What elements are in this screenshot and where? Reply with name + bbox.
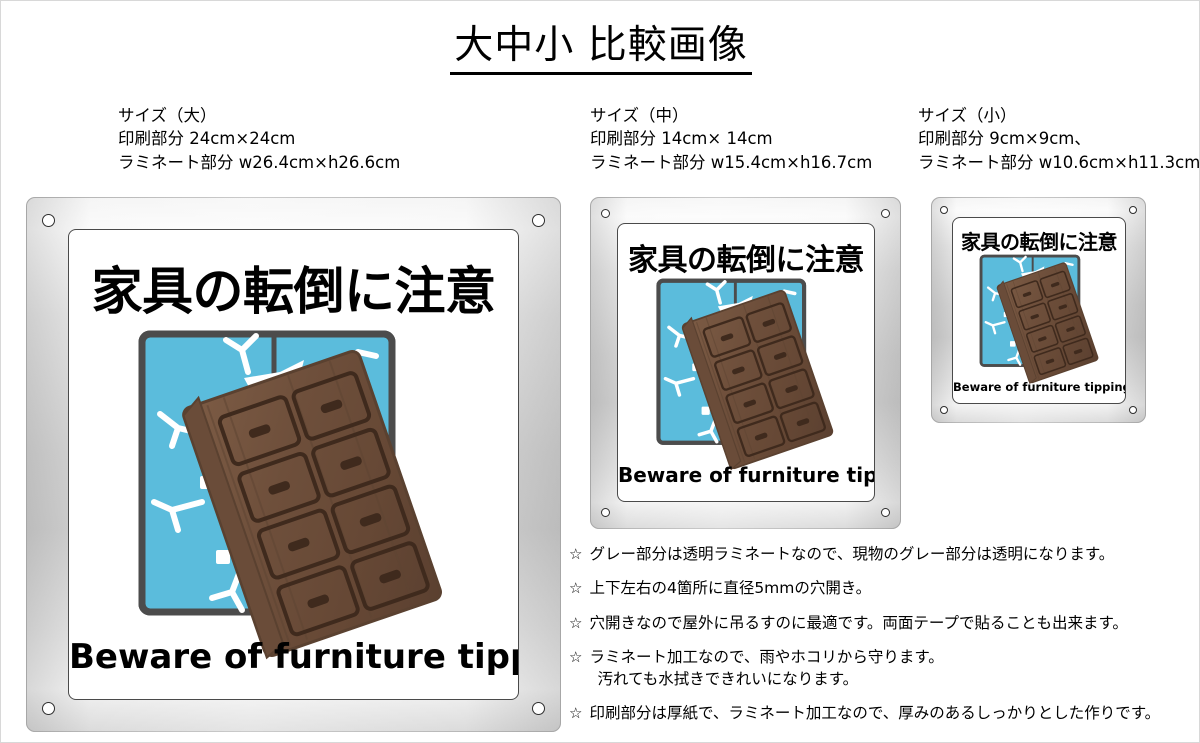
sign-headline-medium: 家具の転倒に注意 [618, 235, 874, 279]
note-item: ☆ 印刷部分は厚紙で、ラミネート加工なので、厚みのあるしっかりとした作りです。 [569, 703, 1199, 724]
star-icon: ☆ [569, 544, 582, 565]
furniture-tipping-illustration-medium [648, 276, 846, 451]
sign-headline-large: 家具の転倒に注意 [69, 250, 518, 324]
sign-subline-large: Beware of furniture tipping [69, 637, 518, 677]
comparison-image-page: 大中小 比較画像 サイズ（大） 印刷部分 24cm×24cm ラミネート部分 w… [0, 0, 1200, 743]
note-line-1: ラミネート加工なので、雨やホコリから守ります。 [589, 648, 943, 666]
notes-list: ☆ グレー部分は透明ラミネートなので、現物のグレー部分は透明になります。 ☆ 上… [569, 544, 1199, 737]
sign-card-medium: 家具の転倒に注意 [617, 223, 875, 502]
sign-card-small: 家具の転倒に注意 [952, 217, 1126, 404]
mounting-hole-top-right [532, 214, 545, 227]
note-text: ラミネート加工なので、雨やホコリから守ります。 汚れても水拭きできれいになります… [589, 647, 1199, 690]
sign-plate-small: 家具の転倒に注意 [931, 197, 1146, 423]
size-label-small: サイズ（小） [918, 104, 1200, 127]
note-line-2: 汚れても水拭きできれいになります。 [589, 669, 1199, 690]
mounting-hole-top-left [42, 214, 55, 227]
sign-subline-medium: Beware of furniture tipping [618, 463, 874, 487]
note-item: ☆ 穴開きなので屋外に吊るすのに最適です。両面テープで貼ることも出来ます。 [569, 613, 1199, 634]
size-caption-medium: サイズ（中） 印刷部分 14cm× 14cm ラミネート部分 w15.4cm×h… [590, 104, 872, 174]
note-line-1: 上下左右の4箇所に直径5mmの穴開き。 [589, 579, 871, 597]
laminate-area-medium: ラミネート部分 w15.4cm×h16.7cm [590, 151, 872, 174]
mounting-hole-top-right [881, 209, 890, 218]
print-area-medium: 印刷部分 14cm× 14cm [590, 127, 872, 150]
mounting-hole-bottom-left [42, 702, 55, 715]
note-text: 上下左右の4箇所に直径5mmの穴開き。 [589, 578, 1199, 599]
size-caption-large: サイズ（大） 印刷部分 24cm×24cm ラミネート部分 w26.4cm×h2… [118, 104, 400, 174]
page-title: 大中小 比較画像 [1, 23, 1200, 75]
furniture-tipping-illustration-small [974, 253, 1107, 371]
star-icon: ☆ [569, 703, 582, 724]
laminate-area-large: ラミネート部分 w26.4cm×h26.6cm [118, 151, 400, 174]
note-text: 印刷部分は厚紙で、ラミネート加工なので、厚みのあるしっかりとした作りです。 [589, 703, 1199, 724]
mounting-hole-top-right [1129, 206, 1137, 214]
note-text: グレー部分は透明ラミネートなので、現物のグレー部分は透明になります。 [589, 544, 1199, 565]
mounting-hole-bottom-right [532, 702, 545, 715]
note-item: ☆ ラミネート加工なので、雨やホコリから守ります。 汚れても水拭きできれいになり… [569, 647, 1199, 690]
mounting-hole-top-left [601, 209, 610, 218]
mounting-hole-top-left [940, 206, 948, 214]
note-item: ☆ 上下左右の4箇所に直径5mmの穴開き。 [569, 578, 1199, 599]
mounting-hole-bottom-left [940, 406, 948, 414]
mounting-hole-bottom-right [1129, 406, 1137, 414]
sign-plate-large: 家具の転倒に注意 [26, 197, 561, 732]
sign-plate-medium: 家具の転倒に注意 [590, 197, 901, 529]
page-title-text: 大中小 比較画像 [450, 25, 751, 75]
laminate-area-small: ラミネート部分 w10.6cm×h11.3cm [918, 151, 1200, 174]
note-text: 穴開きなので屋外に吊るすのに最適です。両面テープで貼ることも出来ます。 [589, 613, 1199, 634]
mounting-hole-bottom-right [881, 508, 890, 517]
size-label-large: サイズ（大） [118, 104, 400, 127]
mounting-hole-bottom-left [601, 508, 610, 517]
sign-headline-small: 家具の転倒に注意 [953, 226, 1125, 255]
print-area-small: 印刷部分 9cm×9cm、 [918, 127, 1200, 150]
note-line-1: グレー部分は透明ラミネートなので、現物のグレー部分は透明になります。 [589, 545, 1114, 563]
size-caption-small: サイズ（小） 印刷部分 9cm×9cm、 ラミネート部分 w10.6cm×h11… [918, 104, 1200, 174]
note-line-1: 穴開きなので屋外に吊るすのに最適です。両面テープで貼ることも出来ます。 [589, 614, 1127, 632]
note-item: ☆ グレー部分は透明ラミネートなので、現物のグレー部分は透明になります。 [569, 544, 1199, 565]
sign-subline-small: Beware of furniture tipping [953, 380, 1125, 394]
furniture-tipping-illustration-large [124, 326, 464, 626]
print-area-large: 印刷部分 24cm×24cm [118, 127, 400, 150]
star-icon: ☆ [569, 613, 582, 634]
star-icon: ☆ [569, 647, 582, 668]
note-line-1: 印刷部分は厚紙で、ラミネート加工なので、厚みのあるしっかりとした作りです。 [589, 704, 1160, 722]
star-icon: ☆ [569, 578, 582, 599]
size-label-medium: サイズ（中） [590, 104, 872, 127]
sign-card-large: 家具の転倒に注意 [68, 229, 519, 700]
